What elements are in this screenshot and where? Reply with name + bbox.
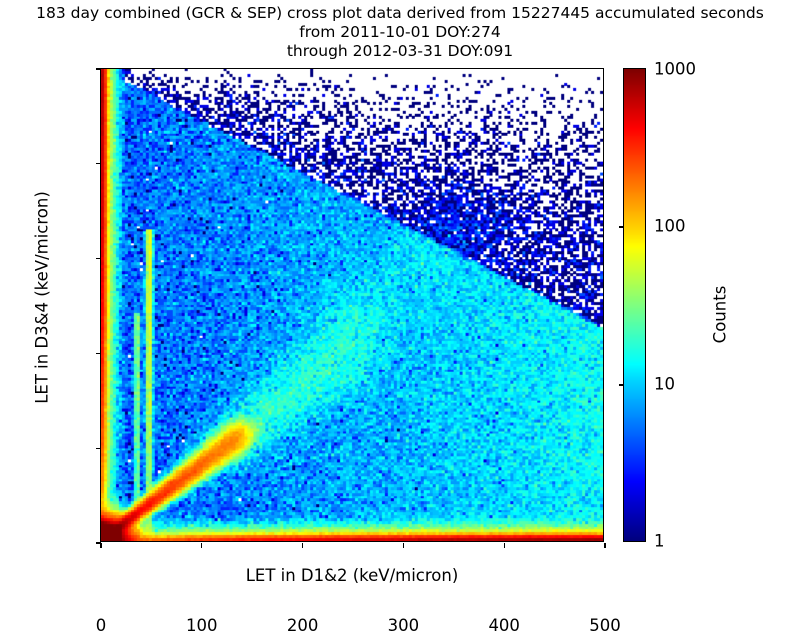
title-line-2: from 2011-10-01 DOY:274: [0, 23, 800, 42]
x-tick-mark: [201, 543, 202, 548]
y-tick-mark: [96, 258, 101, 259]
x-tick-label: 100: [186, 616, 218, 635]
x-tick-label: 300: [388, 616, 420, 635]
colorbar-tick-mark: [619, 226, 624, 227]
colorbar-tick-label: 100: [654, 217, 686, 236]
y-tick-mark: [96, 353, 101, 354]
title-line-1: 183 day combined (GCR & SEP) cross plot …: [0, 4, 800, 23]
x-tick-mark: [403, 543, 404, 548]
x-tick-label: 500: [589, 616, 621, 635]
colorbar-tick-label: 1: [654, 532, 665, 551]
y-tick-mark: [96, 448, 101, 449]
scatter-heatmap: [101, 69, 603, 541]
colorbar-tick-label: 1000: [654, 59, 696, 78]
plot-axes[interactable]: 0100200300400500 0100200300400500: [100, 68, 604, 542]
colorbar-tick-label: 10: [654, 375, 675, 394]
colorbar-gradient: [624, 69, 645, 541]
x-tick-mark: [302, 543, 303, 548]
x-tick-mark: [604, 543, 605, 548]
y-tick-mark: [96, 163, 101, 164]
x-tick-mark: [504, 543, 505, 548]
colorbar-label: Counts: [711, 235, 730, 395]
chart-title: 183 day combined (GCR & SEP) cross plot …: [0, 4, 800, 61]
y-tick-mark: [96, 68, 101, 69]
x-axis-label: LET in D1&2 (keV/micron): [100, 566, 604, 585]
colorbar-tick-mark: [619, 384, 624, 385]
y-axis-label: LET in D3&4 (keV/micron): [33, 148, 52, 448]
x-tick-mark: [100, 543, 101, 548]
x-tick-label: 400: [488, 616, 520, 635]
x-tick-label: 0: [96, 616, 107, 635]
x-tick-label: 200: [287, 616, 319, 635]
figure-canvas: 183 day combined (GCR & SEP) cross plot …: [0, 0, 800, 600]
colorbar[interactable]: [623, 68, 646, 542]
